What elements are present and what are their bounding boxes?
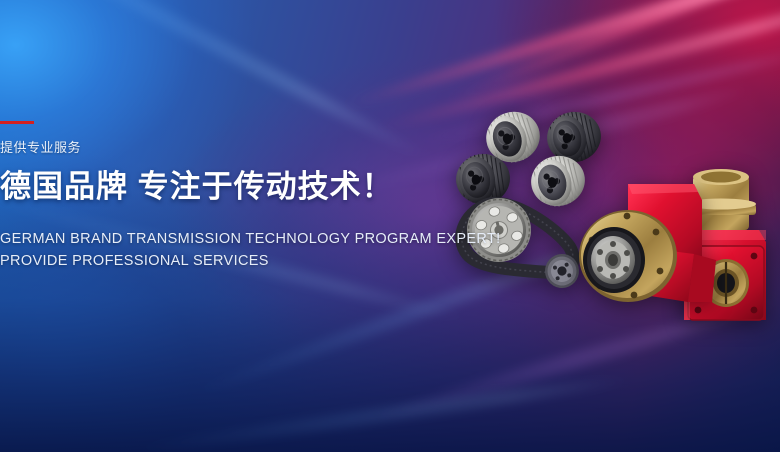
light-ray-purple [404,44,780,149]
timing-pulley-dark-top [543,108,605,166]
banner-copy: 提供专业服务 德国品牌 专注于传动技术！ GERMAN BRAND TRANSM… [0,0,420,452]
banner-subline-1: GERMAN BRAND TRANSMISSION TECHNOLOGY PRO… [0,229,501,249]
banner-headline: 德国品牌 专注于传动技术！ [0,168,394,206]
right-angle-gearbox-front [576,176,741,321]
banner-subline-2: PROVIDE PROFESSIONAL SERVICES [0,251,269,271]
light-ray-red [438,0,780,109]
timing-belt-assembly [455,192,595,322]
accent-rule [0,121,34,124]
promo-banner: 提供专业服务 德国品牌 专注于传动技术！ GERMAN BRAND TRANSM… [0,0,780,452]
timing-pulley-silver-top [482,108,544,166]
light-ray-purple [366,293,780,427]
light-ray-red [368,0,780,137]
timing-pulley-silver-right [527,152,589,210]
right-angle-gearbox-rear [660,168,780,348]
banner-kicker: 提供专业服务 [0,139,81,157]
timing-pulley-dark-left [452,150,514,208]
